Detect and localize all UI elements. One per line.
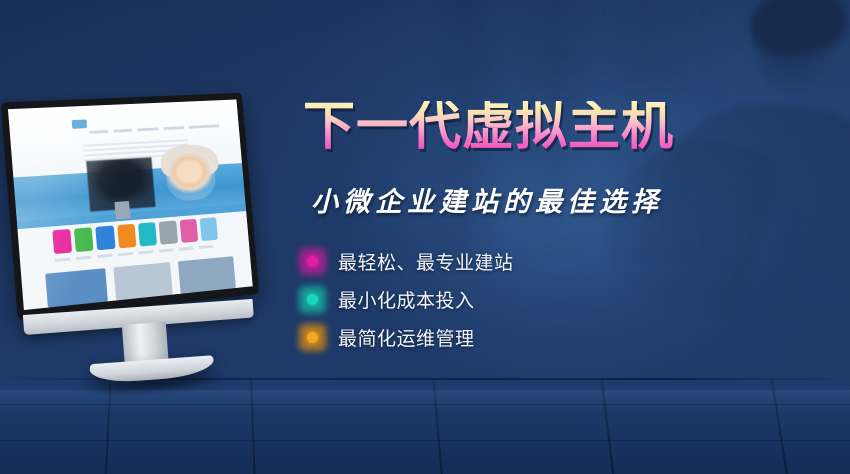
- list-item-label: 最轻松、最专业建站: [338, 248, 514, 275]
- site-app-icon: [117, 224, 136, 249]
- list-item: 最简化运维管理: [303, 325, 514, 349]
- floor-tile-line-h: [0, 404, 850, 405]
- site-app-icon: [159, 221, 178, 245]
- monitor-screen: [8, 99, 253, 310]
- site-app-icon: [74, 227, 94, 252]
- promo-banner: 下一代虚拟主机 小微企业建站的最佳选择 最轻松、最专业建站最小化成本投入最简化运…: [0, 0, 850, 474]
- bullet-dot: [307, 294, 318, 305]
- page-title: 下一代虚拟主机: [303, 101, 674, 153]
- person-silhouette: [650, 0, 850, 284]
- list-item-label: 最小化成本投入: [338, 286, 475, 313]
- page-subtitle: 小微企业建站的最佳选择: [311, 180, 663, 219]
- site-app-icon: [138, 222, 157, 247]
- site-hero-object-stand: [115, 201, 130, 220]
- floor-tile-line-h: [0, 440, 850, 441]
- desktop-monitor-icon: [0, 82, 293, 352]
- bullet-dot-icon: [303, 252, 322, 271]
- site-card: [46, 268, 109, 308]
- bullet-dot-icon: [303, 328, 322, 347]
- site-logo-icon: [72, 120, 88, 129]
- bullet-dot: [307, 256, 318, 267]
- site-app-icon: [179, 219, 198, 243]
- site-card-row: [46, 256, 236, 308]
- site-card: [178, 256, 236, 294]
- site-app-icon: [52, 229, 72, 254]
- site-app-icon: [96, 226, 116, 251]
- bullet-dot-icon: [303, 290, 322, 309]
- list-item-label: 最简化运维管理: [338, 324, 475, 351]
- bullet-dot: [307, 332, 318, 343]
- list-item: 最小化成本投入: [303, 287, 514, 311]
- monitor-bezel: [1, 93, 260, 320]
- site-card: [113, 262, 173, 301]
- feature-list: 最轻松、最专业建站最小化成本投入最简化运维管理: [303, 249, 514, 349]
- site-app-icon: [200, 217, 219, 241]
- list-item: 最轻松、最专业建站: [303, 249, 514, 273]
